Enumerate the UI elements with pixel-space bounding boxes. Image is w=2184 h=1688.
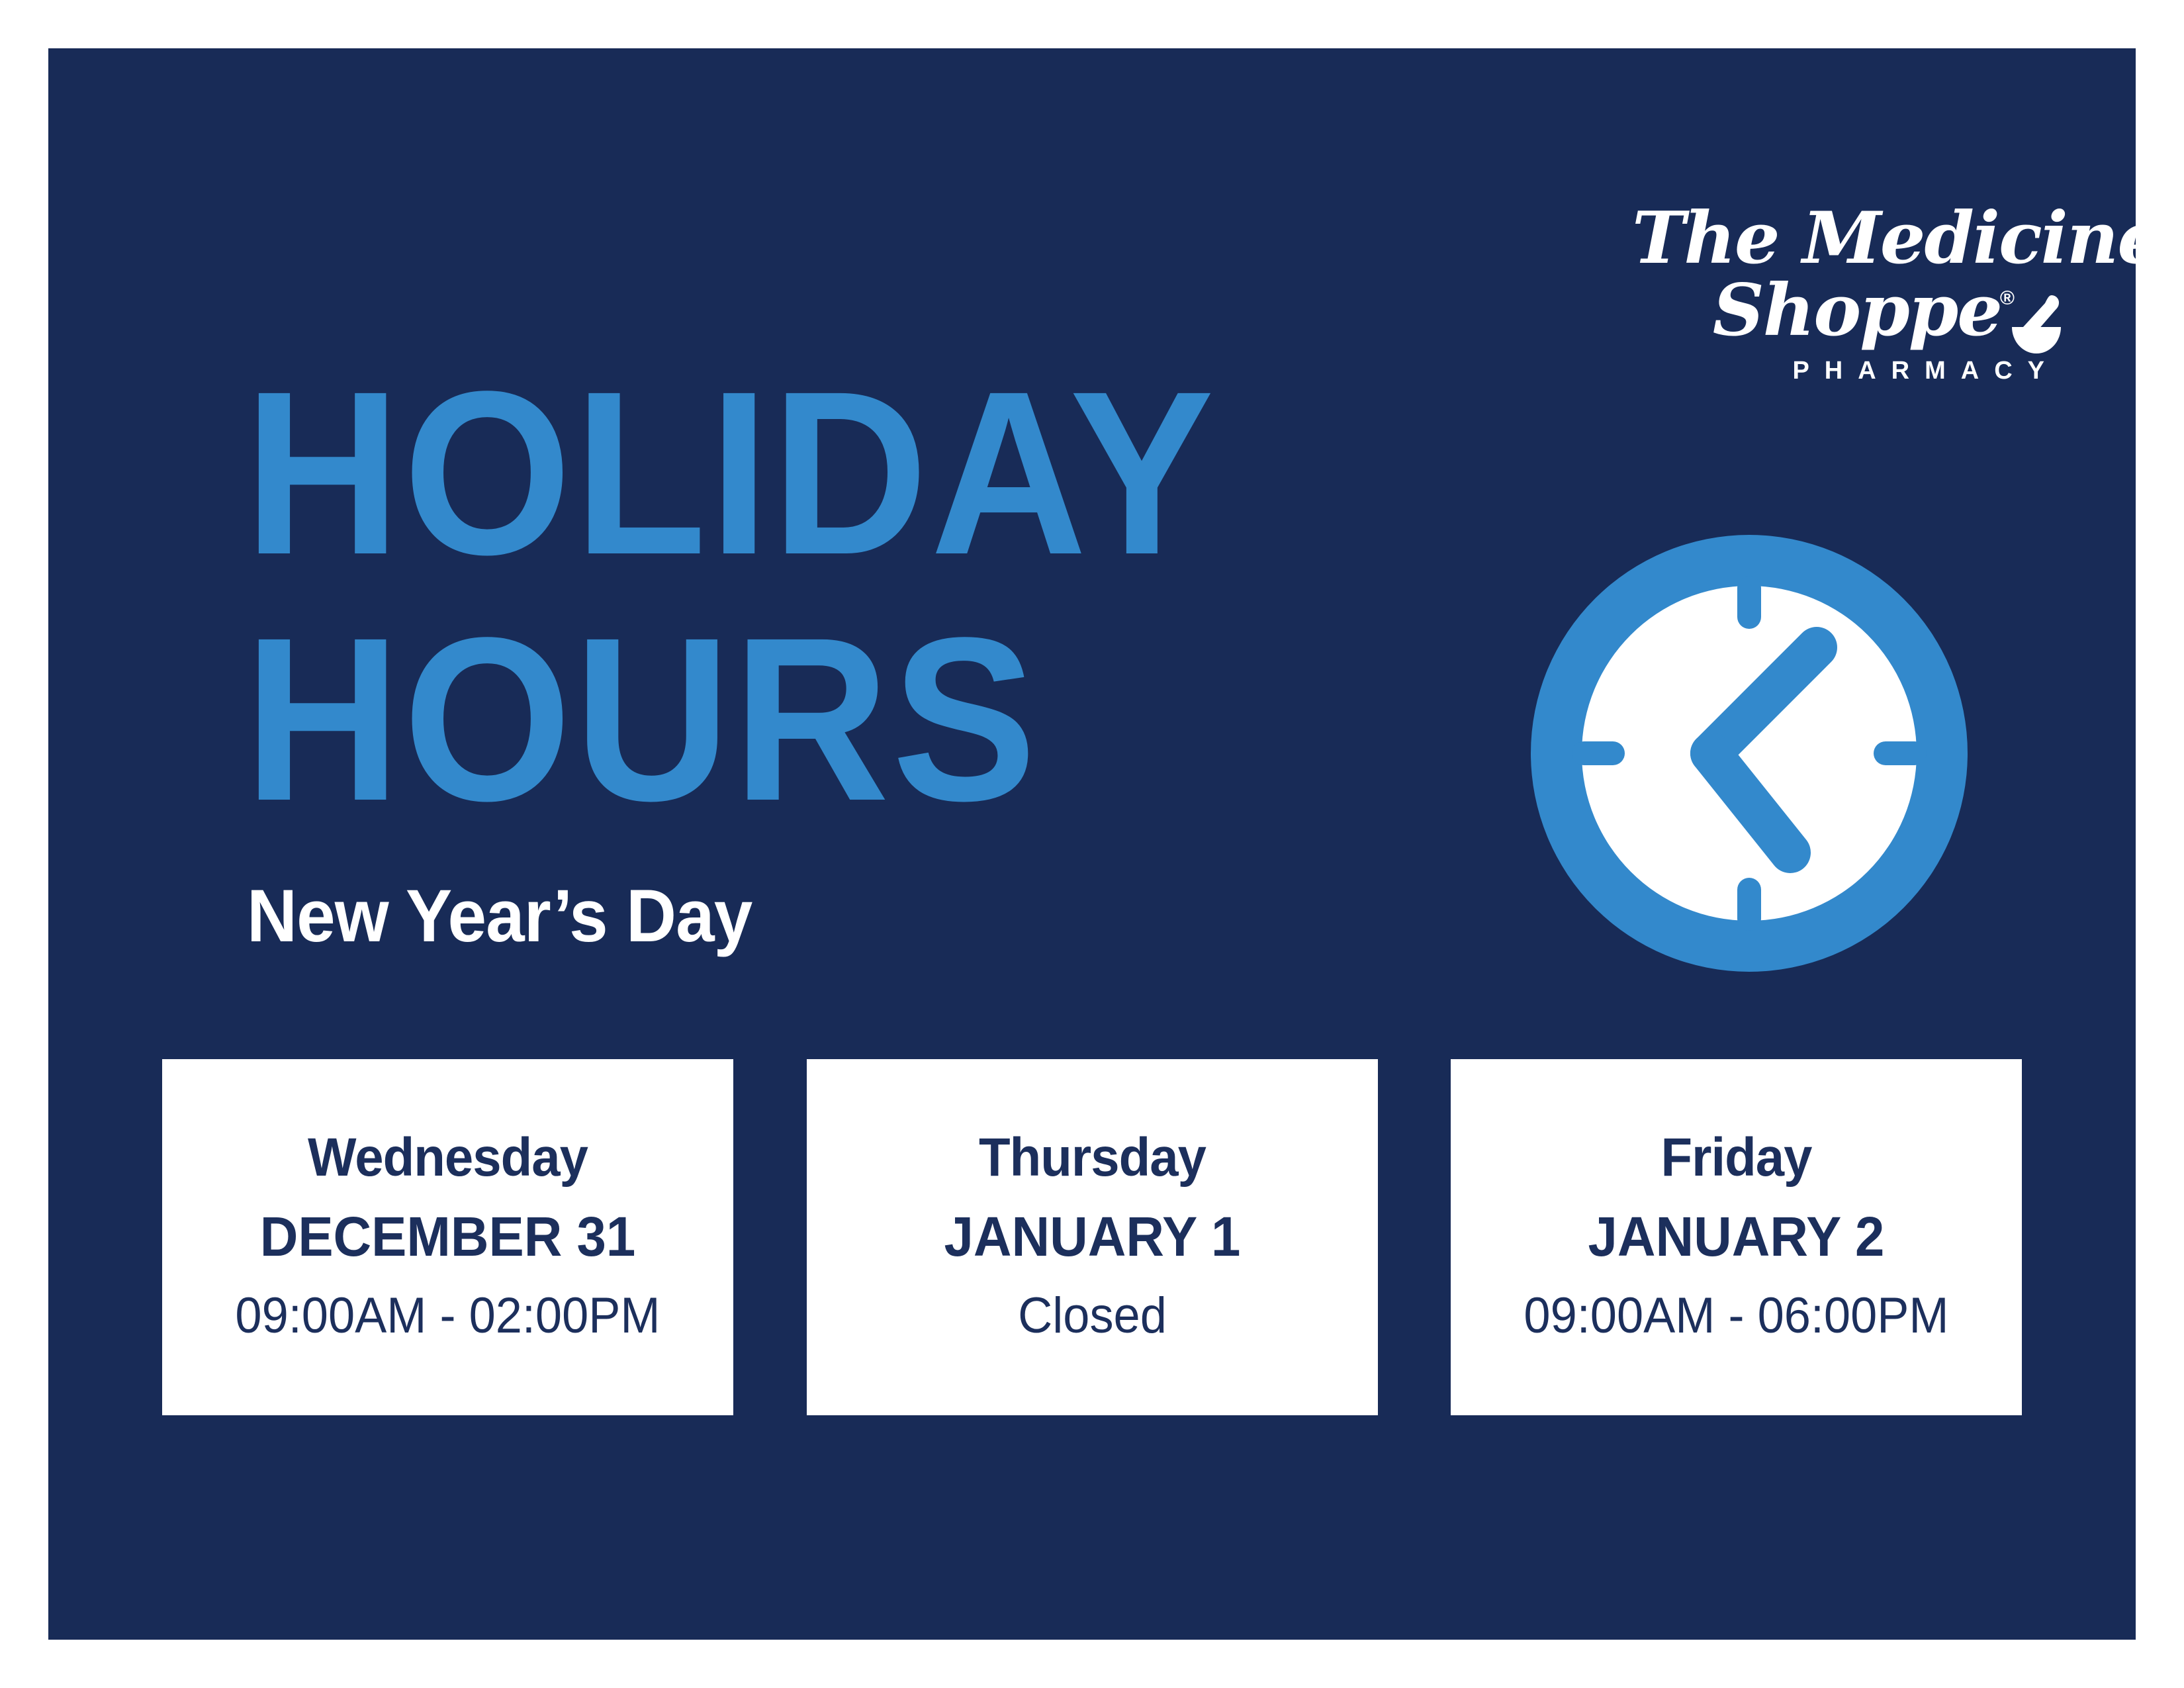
- card-date: DECEMBER 31: [177, 1186, 719, 1268]
- headline-line-hours: HOURS: [244, 596, 1414, 842]
- card-hours: Closed: [821, 1268, 1363, 1344]
- clock-icon: [1531, 535, 1968, 972]
- mortar-and-pestle-icon: [2011, 294, 2062, 356]
- logo-line-shoppe: Shoppe: [1632, 273, 2062, 348]
- card-weekday: Wednesday: [177, 1129, 719, 1186]
- brand-logo: The Medicine Shoppe ® PHARMACY: [1632, 204, 2062, 402]
- card-hours: 09:00AM - 02:00PM: [177, 1268, 719, 1344]
- card-date: JANUARY 1: [821, 1186, 1363, 1268]
- logo-line-the-medicine: The Medicine: [1632, 204, 2062, 273]
- card-hours: 09:00AM - 06:00PM: [1465, 1268, 2008, 1344]
- headline-line-holiday: HOLIDAY: [244, 350, 1414, 596]
- holiday-hours-poster: The Medicine Shoppe ® PHARMACY HOLIDAY H…: [48, 48, 2136, 1640]
- hours-card: Friday JANUARY 2 09:00AM - 06:00PM: [1451, 1059, 2022, 1415]
- card-weekday: Friday: [1465, 1129, 2008, 1186]
- page-title: HOLIDAY HOURS: [244, 350, 1502, 842]
- hours-card-list: Wednesday DECEMBER 31 09:00AM - 02:00PM …: [162, 1059, 2022, 1415]
- hours-card: Thursday JANUARY 1 Closed: [807, 1059, 1378, 1415]
- logo-tagline-pharmacy: PHARMACY: [1632, 348, 2062, 385]
- card-date: JANUARY 2: [1465, 1186, 2008, 1268]
- card-weekday: Thursday: [821, 1129, 1363, 1186]
- hours-card: Wednesday DECEMBER 31 09:00AM - 02:00PM: [162, 1059, 733, 1415]
- page-subtitle: New Year’s Day: [247, 879, 752, 953]
